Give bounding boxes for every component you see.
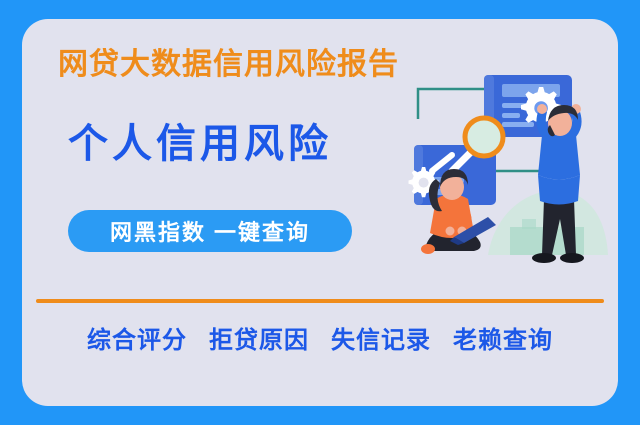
feature-item-score[interactable]: 综合评分 xyxy=(87,320,187,355)
credit-report-illustration xyxy=(392,59,618,299)
query-button-label: 网黑指数 一键查询 xyxy=(110,215,310,247)
content-card: 网贷大数据信用风险报告 个人信用风险 网黑指数 一键查询 综合评分 拒贷原因 失… xyxy=(22,19,618,406)
feature-item-reject-reason[interactable]: 拒贷原因 xyxy=(209,320,309,355)
feature-list: 综合评分 拒贷原因 失信记录 老赖查询 xyxy=(36,320,604,355)
query-button[interactable]: 网黑指数 一键查询 xyxy=(68,210,352,252)
feature-item-default-record[interactable]: 失信记录 xyxy=(331,320,431,355)
feature-item-debtor-query[interactable]: 老赖查询 xyxy=(453,320,553,355)
poster-root: 网贷大数据信用风险报告 个人信用风险 网黑指数 一键查询 综合评分 拒贷原因 失… xyxy=(0,0,640,425)
section-divider xyxy=(36,299,604,303)
